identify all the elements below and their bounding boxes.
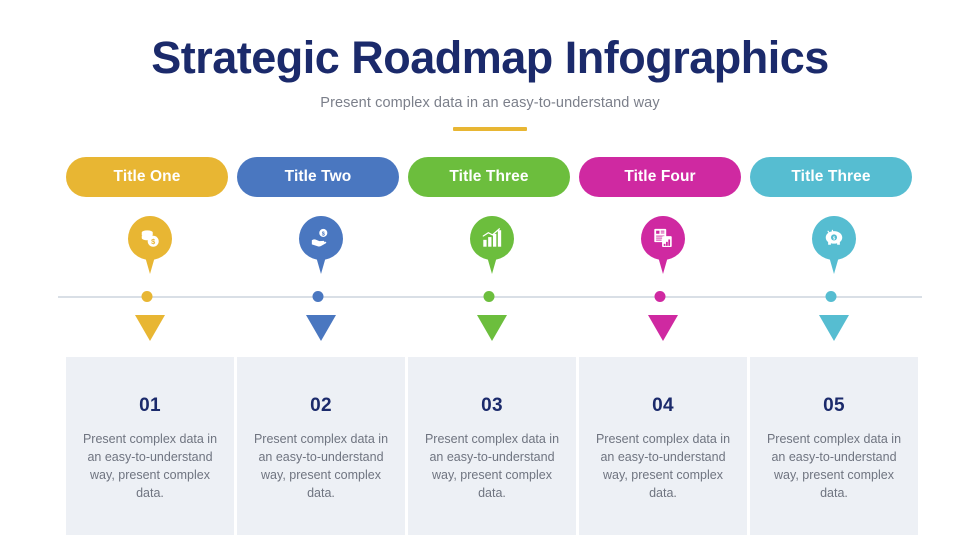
step-title-label: Title Two — [285, 168, 352, 186]
roadmap-step-03: Title Three03Present complex data in an … — [408, 157, 576, 535]
step-arrow-wrapper — [408, 315, 576, 341]
title-underline-accent — [453, 127, 527, 131]
step-down-arrow-icon — [135, 315, 165, 341]
step-card: 05Present complex data in an easy-to-und… — [750, 357, 918, 535]
step-location-pin[interactable] — [470, 216, 514, 260]
step-arrow-wrapper — [579, 315, 747, 341]
step-card: 01Present complex data in an easy-to-und… — [66, 357, 234, 535]
step-location-pin[interactable]: $ — [128, 216, 172, 260]
step-location-pin[interactable] — [641, 216, 685, 260]
step-description: Present complex data in an easy-to-under… — [251, 431, 391, 502]
step-arrow-wrapper — [750, 315, 918, 341]
step-card: 02Present complex data in an easy-to-und… — [237, 357, 405, 535]
step-down-arrow-icon — [306, 315, 336, 341]
step-title-pill[interactable]: Title Two — [237, 157, 399, 197]
step-number: 05 — [764, 357, 904, 417]
step-pin-wrapper: $ — [66, 216, 234, 294]
step-number: 01 — [80, 357, 220, 417]
step-location-pin[interactable]: $ — [299, 216, 343, 260]
step-location-pin[interactable]: $ — [812, 216, 856, 260]
step-title-pill[interactable]: Title Three — [408, 157, 570, 197]
roadmap-step-02: Title Two$02Present complex data in an e… — [237, 157, 405, 535]
timeline-axis-dot — [484, 291, 495, 302]
svg-text:$: $ — [322, 232, 325, 238]
step-pin-wrapper — [408, 216, 576, 294]
page-title: Strategic Roadmap Infographics — [0, 34, 980, 81]
report-document-icon — [652, 227, 674, 249]
step-down-arrow-icon — [477, 315, 507, 341]
page-subtitle: Present complex data in an easy-to-under… — [0, 95, 980, 111]
coins-stack-icon: $ — [139, 227, 161, 249]
step-down-arrow-icon — [648, 315, 678, 341]
roadmap-step-01: Title One$01Present complex data in an e… — [66, 157, 234, 535]
step-title-label: Title Three — [449, 168, 528, 186]
svg-text:$: $ — [151, 237, 155, 246]
step-arrow-wrapper — [237, 315, 405, 341]
step-number: 02 — [251, 357, 391, 417]
step-title-pill[interactable]: Title Four — [579, 157, 741, 197]
hand-holding-coin-icon: $ — [310, 227, 332, 249]
timeline-axis-dot — [826, 291, 837, 302]
step-title-label: Title One — [114, 168, 181, 186]
step-title-pill[interactable]: Title One — [66, 157, 228, 197]
step-description: Present complex data in an easy-to-under… — [764, 431, 904, 502]
step-description: Present complex data in an easy-to-under… — [80, 431, 220, 502]
step-pin-wrapper: $ — [750, 216, 918, 294]
roadmap-step-04: Title Four04Present complex data in an e… — [579, 157, 747, 535]
piggy-bank-icon: $ — [823, 227, 845, 249]
step-description: Present complex data in an easy-to-under… — [593, 431, 733, 502]
step-number: 03 — [422, 357, 562, 417]
step-pin-wrapper — [579, 216, 747, 294]
step-down-arrow-icon — [819, 315, 849, 341]
step-title-label: Title Three — [791, 168, 870, 186]
timeline-axis-dot — [313, 291, 324, 302]
step-card: 04Present complex data in an easy-to-und… — [579, 357, 747, 535]
timeline-axis-dot — [655, 291, 666, 302]
roadmap-timeline: Title One$01Present complex data in an e… — [0, 157, 980, 517]
step-card: 03Present complex data in an easy-to-und… — [408, 357, 576, 535]
step-arrow-wrapper — [66, 315, 234, 341]
bar-chart-growth-icon — [481, 227, 503, 249]
step-number: 04 — [593, 357, 733, 417]
roadmap-step-05: Title Three$05Present complex data in an… — [750, 157, 918, 535]
timeline-axis-dot — [142, 291, 153, 302]
step-title-pill[interactable]: Title Three — [750, 157, 912, 197]
header: Strategic Roadmap Infographics Present c… — [0, 0, 980, 131]
step-title-label: Title Four — [624, 168, 695, 186]
step-description: Present complex data in an easy-to-under… — [422, 431, 562, 502]
step-pin-wrapper: $ — [237, 216, 405, 294]
